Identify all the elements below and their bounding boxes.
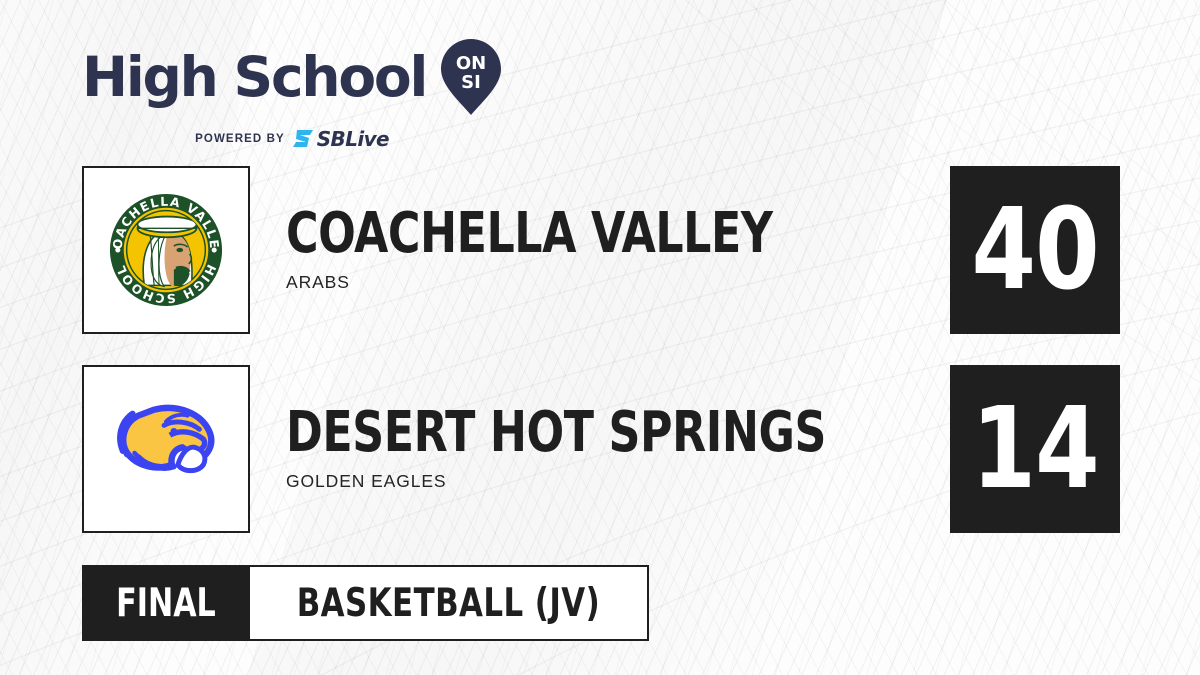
team-score: 14 xyxy=(971,393,1098,505)
team-logo-box xyxy=(82,365,250,533)
team-mascot: ARABS xyxy=(286,272,839,293)
team-score-box: 40 xyxy=(950,166,1120,334)
onsi-pin-line1: ON xyxy=(456,53,486,74)
team-info: DESERT HOT SPRINGS GOLDEN EAGLES xyxy=(286,406,900,492)
team-info: COACHELLA VALLEY ARABS xyxy=(286,207,839,293)
sblive-logo: SBLive xyxy=(293,128,389,149)
team-name: DESERT HOT SPRINGS xyxy=(286,406,826,460)
team-score: 40 xyxy=(971,194,1098,306)
coachella-valley-crest-logo: COACHELLA VALLEY HIGH SCHOOL xyxy=(107,191,225,309)
game-status-bar: FINAL BASKETBALL (JV) xyxy=(82,565,649,641)
powered-by-label: POWERED BY xyxy=(195,133,285,145)
onsi-pin-icon: ON SI xyxy=(440,38,502,121)
team-name: COACHELLA VALLEY xyxy=(286,207,773,261)
team-logo-box: COACHELLA VALLEY HIGH SCHOOL xyxy=(82,166,250,334)
sblive-mark-icon xyxy=(293,128,315,149)
page-title: High School xyxy=(82,50,426,105)
brand-title-row: High School ON SI xyxy=(82,36,502,119)
onsi-pin-line2: SI xyxy=(461,72,481,93)
team-score-box: 14 xyxy=(950,365,1120,533)
status-badge-label: FINAL xyxy=(116,581,216,626)
powered-by-row: POWERED BY SBLive xyxy=(82,128,502,149)
sport-label: BASKETBALL (JV) xyxy=(297,581,600,626)
brand-header: High School ON SI POWERED BY SBLive xyxy=(82,36,502,149)
team-row: COACHELLA VALLEY HIGH SCHOOL xyxy=(82,166,839,334)
team-row: DESERT HOT SPRINGS GOLDEN EAGLES xyxy=(82,365,900,533)
status-badge: FINAL xyxy=(82,565,250,641)
team-mascot: GOLDEN EAGLES xyxy=(286,471,900,492)
sblive-wordmark: SBLive xyxy=(317,129,389,149)
golden-eagle-head-logo xyxy=(107,390,225,508)
sport-label-box: BASKETBALL (JV) xyxy=(250,565,649,641)
